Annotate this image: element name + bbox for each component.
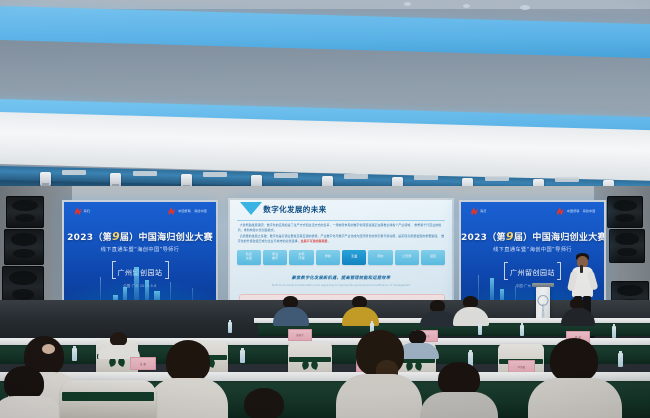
- audience-person-foreground: [420, 362, 496, 418]
- slide-tag-label-line-2: 环保: [298, 257, 304, 261]
- banner-title-pre: 2023（第: [67, 233, 112, 243]
- chair-sash: [289, 357, 331, 362]
- water-bottle: [612, 326, 616, 338]
- truss-light-bar: [414, 175, 438, 180]
- slide-tag-label-line-1: 商办: [377, 255, 383, 259]
- slide-tag-label-line-2: 交通: [246, 257, 252, 261]
- slide-tag-5: 工业: [342, 250, 366, 265]
- slide-tag-2: 商业楼宇: [263, 250, 287, 265]
- slide-tag-7: 公安部: [395, 250, 419, 265]
- audience-head: [438, 362, 480, 396]
- loudspeaker-right-mid: [609, 229, 645, 263]
- slide-tagline-en: Shift more clarity transformation and up…: [257, 284, 426, 287]
- swoosh-logo-icon: [557, 207, 564, 215]
- slide-paragraph-highlight: 这是不可逆的新趋势: [301, 239, 328, 243]
- banner-logo-left-text: 海归: [84, 209, 90, 213]
- truss-light-bar: [274, 173, 298, 178]
- slide-tag-label-line-1: 学校: [325, 255, 331, 259]
- banner-logo-right-text-2: 海创中国: [583, 209, 596, 213]
- slide-tag-label-line-2: 楼宇: [272, 257, 278, 261]
- banner-title-post: 届）中国海归创业大赛: [120, 233, 213, 243]
- slide-paragraph-1-line-1: · 大势所趋发展潮流：数字化的应用加速了生产方式和生活方式的变革，一场前所未有的…: [238, 223, 414, 227]
- water-bottle: [520, 325, 524, 336]
- loudspeaker-left-upper: [6, 196, 44, 228]
- audience-person: [96, 332, 140, 356]
- handheld-microphone-icon: [580, 265, 583, 273]
- recessed-light-icon: [404, 2, 411, 6]
- ceiling: [0, 0, 650, 176]
- swoosh-logo-icon: [168, 207, 175, 215]
- slide-tag-4: 学校: [316, 250, 340, 265]
- audience-shoulders: [148, 378, 228, 418]
- audience-person-foreground: [0, 366, 62, 418]
- banner-title-left: 2023（第9届）中国海归创业大赛: [64, 230, 216, 243]
- slide-paragraph-2: · 高质量的发展之基础：数字化是打通全要素互联互通的桥梁，产业数字化与数字产业化…: [238, 234, 444, 243]
- water-bottle: [240, 350, 245, 363]
- chair-sash: [62, 392, 154, 401]
- loudspeaker-right-upper: [607, 196, 643, 228]
- presentation-slide: 数字化发展的未来 · 大势所趋发展潮流：数字化的应用加速了生产方式和生活方式的变…: [230, 200, 452, 310]
- audience-head: [244, 388, 284, 418]
- audience-person: [272, 296, 310, 326]
- slide-tagline-cn: 聚焦数字化发展新机遇，提高管理效能和运营效率: [252, 275, 430, 281]
- swoosh-logo-icon: [75, 207, 82, 215]
- slide-tag-label-line-1: 公安部: [402, 255, 411, 259]
- audience-person: [340, 296, 380, 326]
- audience-person: [452, 296, 490, 326]
- audience-shoulders: [273, 307, 309, 326]
- slide-tag-8: 园区: [421, 250, 445, 265]
- banner-logo-left: 海归: [471, 207, 486, 215]
- slide-tag-6: 商办: [368, 250, 392, 265]
- namecard: 黄振宇: [288, 329, 312, 341]
- banner-subtitle-left: 线下直通车暨“海创中国”导师行: [64, 246, 216, 253]
- audience-person-foreground: [336, 330, 420, 418]
- slide-tag-label-line-1: 园区: [430, 255, 436, 259]
- slide-tag-row: 轨道交通商业楼宇水务环保学校工业商办公安部园区: [237, 250, 446, 265]
- audience-shoulders: [561, 308, 595, 326]
- slide-paragraph-2-end: 。: [328, 239, 331, 243]
- truss-light-bar: [62, 170, 86, 175]
- ceiling-top-strip: [0, 0, 650, 9]
- audience-head: [4, 366, 44, 400]
- hair-tie-icon: [42, 344, 55, 354]
- audience-shoulders: [420, 392, 498, 418]
- audience-person-foreground: [528, 338, 620, 418]
- banner-edition-number: 9: [112, 230, 120, 243]
- banner-title-post: 届）中国海归创业大赛: [514, 233, 606, 243]
- spotlight-icon: [40, 172, 51, 187]
- truss-light-bar: [203, 172, 227, 177]
- audience-shoulders: [336, 374, 422, 418]
- slide-tag-1: 轨道交通: [237, 250, 261, 265]
- slide-paragraph-1: · 大势所趋发展潮流：数字化的应用加速了生产方式和生活方式的变革，一场前所未有的…: [238, 223, 444, 232]
- water-bottle: [478, 324, 482, 335]
- audience-person-foreground: [148, 340, 226, 418]
- chair-foreground: [60, 380, 156, 418]
- banner-logo-right-text-1: 中国侨联: [178, 209, 191, 213]
- truss-light-bar: [555, 177, 579, 182]
- audience-person: [560, 298, 596, 326]
- event-banner-left: 海归 中国侨联 海创中国 2023（第9届）中国海归创业大赛 线下直通车暨“海创…: [64, 202, 216, 308]
- banner-title-pre: 2023（第: [461, 233, 506, 243]
- spacer: [120, 300, 121, 301]
- audience-shoulders: [528, 378, 622, 418]
- truss-light-bar: [344, 174, 368, 179]
- audience-head: [550, 338, 598, 382]
- audience-person-foreground: [232, 388, 296, 418]
- chevron-down-icon: [240, 202, 262, 215]
- water-bottle: [228, 322, 232, 333]
- audience-hair: [166, 340, 210, 382]
- slide-tag-3: 水务环保: [289, 250, 313, 265]
- banner-logo-left: 海归: [75, 207, 90, 215]
- swoosh-logo-icon: [471, 207, 478, 215]
- banner-logo-right: 中国侨联 海创中国: [168, 207, 207, 215]
- recessed-light-icon: [463, 4, 470, 8]
- banner-edition-number: 9: [506, 230, 514, 243]
- banner-logo-right-text-1: 中国侨联: [567, 209, 580, 213]
- audience-shoulders: [453, 307, 489, 326]
- audience-head: [110, 332, 127, 346]
- audience-shoulders: [0, 396, 62, 418]
- banner-logo-right: 中国侨联 海创中国: [557, 207, 596, 215]
- loudspeaker-left-lower: [4, 229, 44, 265]
- led-screen-center: 数字化发展的未来 · 大势所趋发展潮流：数字化的应用加速了生产方式和生活方式的变…: [228, 198, 454, 312]
- led-screen-left: 海归 中国侨联 海创中国 2023（第9届）中国海归创业大赛 线下直通车暨“海创…: [62, 200, 218, 310]
- banner-logo-left-text: 海归: [480, 209, 486, 213]
- truss-light-bar: [133, 171, 157, 176]
- banner-logo-right-text-2: 海创中国: [194, 209, 207, 213]
- conference-hall-photo: 海归 中国侨联 海创中国 2023（第9届）中国海归创业大赛 线下直通车暨“海创…: [0, 0, 650, 418]
- recessed-light-icon: [520, 5, 530, 10]
- banner-title-right: 2023（第9届）中国海归创业大赛: [461, 230, 604, 243]
- truss-light-bar: [485, 176, 509, 181]
- slide-title: 数字化发展的未来: [263, 204, 326, 215]
- slide-paragraph-2-line-1: · 高质量的发展之基础：数字化是打通全要素互联互通的桥梁，产业数字化与数字产业化…: [238, 234, 440, 238]
- slide-divider: [237, 220, 446, 221]
- slide-tag-label-line-1: 工业: [351, 255, 357, 259]
